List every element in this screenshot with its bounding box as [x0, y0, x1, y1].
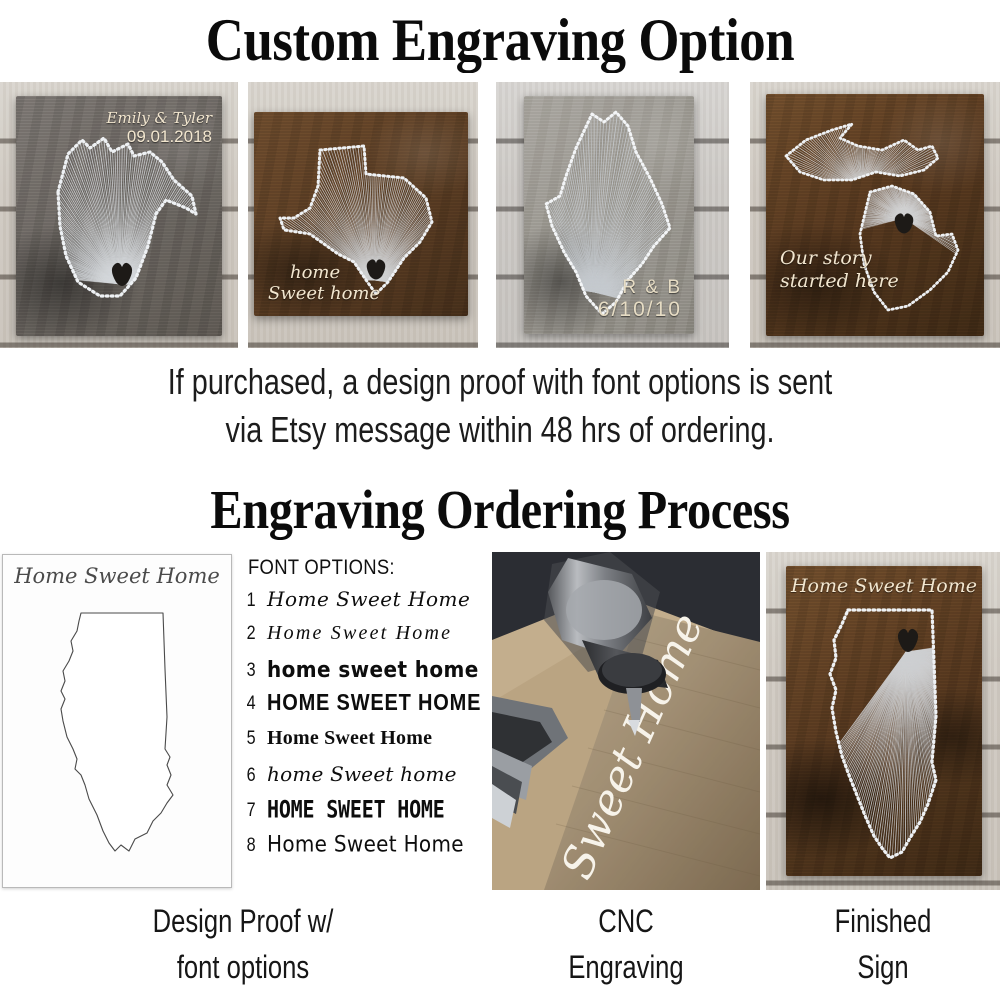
font-option-sample: Home Sweet Home	[267, 727, 432, 750]
font-option-row[interactable]: 2 Home Sweet Home	[245, 622, 485, 657]
cnc-engraving-photo: Sweet Home	[492, 552, 760, 890]
string-art-illinois	[786, 566, 982, 876]
caption-cnc-engraving: CNC Engraving	[519, 898, 733, 990]
font-option-number: 5	[247, 728, 266, 750]
caption-line: Engraving	[519, 944, 733, 990]
example-photo-row: Emily & Tyler 09.01.2018	[0, 82, 1000, 348]
section-title-ordering-process: Engraving Ordering Process	[60, 477, 940, 543]
font-option-number: 1	[247, 590, 266, 612]
wood-board-texas: home Sweet home	[254, 112, 468, 316]
caption-design-proof: Design Proof w/ font options	[49, 898, 438, 990]
caption-line: CNC	[519, 898, 733, 944]
font-option-number: 4	[247, 693, 266, 715]
example-photo-wisconsin: Emily & Tyler 09.01.2018	[0, 82, 238, 348]
purchase-note-line-2: via Etsy message within 48 hrs of orderi…	[100, 406, 900, 454]
font-option-sample: Home Sweet Home	[267, 831, 464, 857]
font-option-number: 7	[247, 800, 266, 822]
font-option-sample: Home Sweet Home	[267, 587, 470, 611]
font-option-sample: home Sweet home	[267, 762, 457, 786]
proof-sheet-script-text: Home Sweet Home	[3, 564, 231, 588]
font-option-row[interactable]: 6 home Sweet home	[245, 762, 485, 797]
font-option-number: 2	[247, 623, 266, 645]
caption-line: Sign	[789, 944, 976, 990]
font-option-sample: home sweet home	[267, 656, 479, 683]
font-option-sample: HOME SWEET HOME	[267, 795, 445, 824]
font-option-number: 6	[247, 765, 266, 787]
illinois-outline-icon	[37, 599, 202, 874]
cnc-scene: Sweet Home	[492, 552, 760, 890]
wood-board-maine: R & B 6/10/10	[524, 96, 694, 334]
caption-line: Finished	[789, 898, 976, 944]
string-art-maine	[524, 96, 694, 334]
design-proof-panel: Home Sweet Home FONT OPTIONS: 1 Home Swe…	[0, 552, 485, 890]
product-listing-image: Custom Engraving Option	[0, 0, 1000, 1000]
caption-line: font options	[49, 944, 438, 990]
font-option-row[interactable]: 3 home sweet home	[245, 657, 485, 692]
caption-line: Design Proof w/	[49, 898, 438, 944]
font-option-row[interactable]: 5 Home Sweet Home	[245, 727, 485, 762]
wood-board-finished: Home Sweet Home	[786, 566, 982, 876]
string-art-michigan	[766, 94, 984, 336]
wood-board-michigan: Our story started here	[766, 94, 984, 336]
purchase-note: If purchased, a design proof with font o…	[100, 358, 900, 454]
example-photo-texas: home Sweet home	[248, 82, 478, 348]
caption-finished-sign: Finished Sign	[789, 898, 976, 990]
font-option-number: 3	[247, 660, 266, 682]
font-option-row[interactable]: 7 HOME SWEET HOME	[245, 797, 485, 832]
example-photo-maine: R & B 6/10/10	[496, 82, 729, 348]
example-photo-michigan: Our story started here	[750, 82, 1000, 348]
font-option-row[interactable]: 4 HOME SWEET HOME	[245, 692, 485, 727]
font-options-header: FONT OPTIONS:	[248, 556, 457, 580]
process-step-row: Home Sweet Home FONT OPTIONS: 1 Home Swe…	[0, 552, 1000, 890]
purchase-note-line-1: If purchased, a design proof with font o…	[100, 358, 900, 406]
string-art-wisconsin	[16, 96, 222, 336]
page-title-custom-engraving: Custom Engraving Option	[60, 4, 940, 76]
font-option-sample: HOME SWEET HOME	[267, 690, 481, 716]
font-option-row[interactable]: 8 Home Sweet Home	[245, 832, 485, 867]
font-option-number: 8	[247, 835, 266, 857]
design-proof-sheet: Home Sweet Home	[2, 554, 232, 888]
wood-board-wisconsin: Emily & Tyler 09.01.2018	[16, 96, 222, 336]
font-options-list: FONT OPTIONS: 1 Home Sweet Home 2 Home S…	[245, 556, 485, 886]
string-art-texas	[254, 112, 468, 316]
finished-sign-photo: Home Sweet Home	[766, 552, 1000, 890]
font-option-sample: Home Sweet Home	[267, 622, 452, 645]
font-option-row[interactable]: 1 Home Sweet Home	[245, 587, 485, 622]
